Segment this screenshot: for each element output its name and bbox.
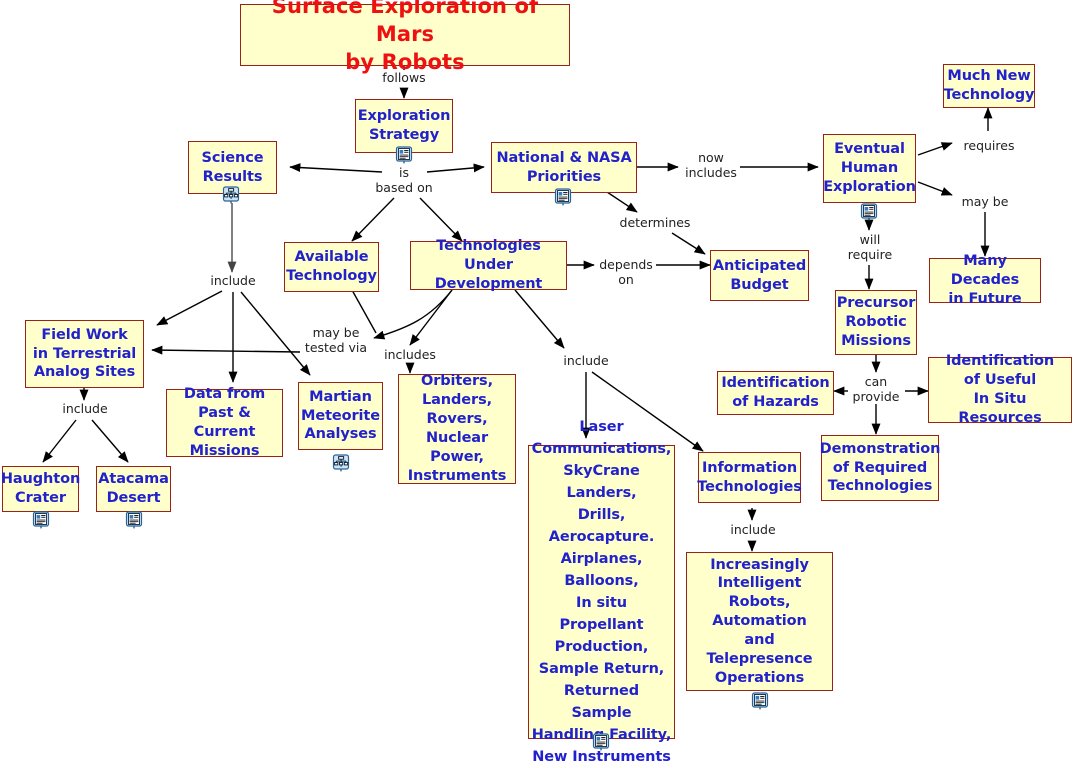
node-demonstration-of-required-technologies[interactable]: Demonstration of Required Technologies [821,435,939,501]
node-technologies-under-development[interactable]: Technologies Under Development [410,241,567,290]
node-identification-of-useful-in-situ-resources[interactable]: Identification of Useful In Situ Resourc… [928,357,1072,423]
badge-atacama-document-icon[interactable] [125,511,143,529]
node-martian-meteorite-analyses[interactable]: Martian Meteorite Analyses [298,382,383,450]
node-identification-of-hazards[interactable]: Identification of Hazards [717,371,834,415]
link-label-now-includes: now includes [682,151,740,181]
link-label-include-field-work: include [55,402,115,417]
node-orbiters-landers-rovers[interactable]: Orbiters, Landers, Rovers, Nuclear Power… [398,374,516,484]
badge-robots-document-icon[interactable] [751,692,769,710]
node-title[interactable]: Surface Exploration of Mars by Robots [240,4,570,66]
node-national-nasa-priorities[interactable]: National & NASA Priorities [491,142,637,193]
node-exploration-strategy[interactable]: Exploration Strategy [355,99,453,153]
link-label-is-based-on: is based on [366,166,442,196]
link-label-determines: determines [617,216,693,231]
badge-exploration-strategy-document-icon[interactable] [395,146,413,164]
node-many-decades-in-future[interactable]: Many Decades in Future [929,258,1041,303]
node-information-technologies[interactable]: Information Technologies [698,452,801,503]
node-anticipated-budget[interactable]: Anticipated Budget [710,250,809,301]
link-label-will-require: will require [841,233,899,263]
link-label-includes-orbiters: includes [381,348,439,363]
node-eventual-human-exploration[interactable]: Eventual Human Exploration [823,134,916,203]
badge-meteorite-concept-map-icon[interactable] [332,454,350,472]
badge-priorities-document-icon[interactable] [554,188,572,206]
link-label-depends-on: depends on [597,258,655,288]
badge-haughton-document-icon[interactable] [32,511,50,529]
link-label-can-provide: can provide [847,375,905,405]
link-label-may-be: may be [956,195,1014,210]
concept-map-canvas: Surface Exploration of Mars by Robots Ex… [0,0,1073,753]
link-label-may-be-tested-via: may be tested via [296,326,376,356]
badge-science-results-concept-map-icon[interactable] [222,186,240,204]
node-atacama-desert[interactable]: Atacama Desert [96,466,171,512]
link-label-follows: follows [374,71,434,86]
link-label-requires: requires [958,139,1020,154]
badge-laser-document-icon[interactable] [592,733,610,751]
node-data-from-past-current-missions[interactable]: Data from Past & Current Missions [166,389,283,457]
badge-human-exploration-document-icon[interactable] [860,203,878,221]
node-haughton-crater[interactable]: Haughton Crater [2,466,79,512]
node-available-technology[interactable]: Available Technology [284,242,379,292]
node-laser-communications-list[interactable]: Laser Communications, SkyCrane Landers, … [528,445,675,739]
node-precursor-robotic-missions[interactable]: Precursor Robotic Missions [835,290,917,355]
node-much-new-technology[interactable]: Much New Technology [943,64,1035,108]
node-increasingly-intelligent-robots[interactable]: Increasingly Intelligent Robots, Automat… [686,552,833,691]
link-label-include-science: include [203,274,263,289]
link-label-include-info-tech: include [723,523,783,538]
node-field-work-analog-sites[interactable]: Field Work in Terrestrial Analog Sites [25,320,144,388]
link-label-include-technologies: include [556,354,616,369]
